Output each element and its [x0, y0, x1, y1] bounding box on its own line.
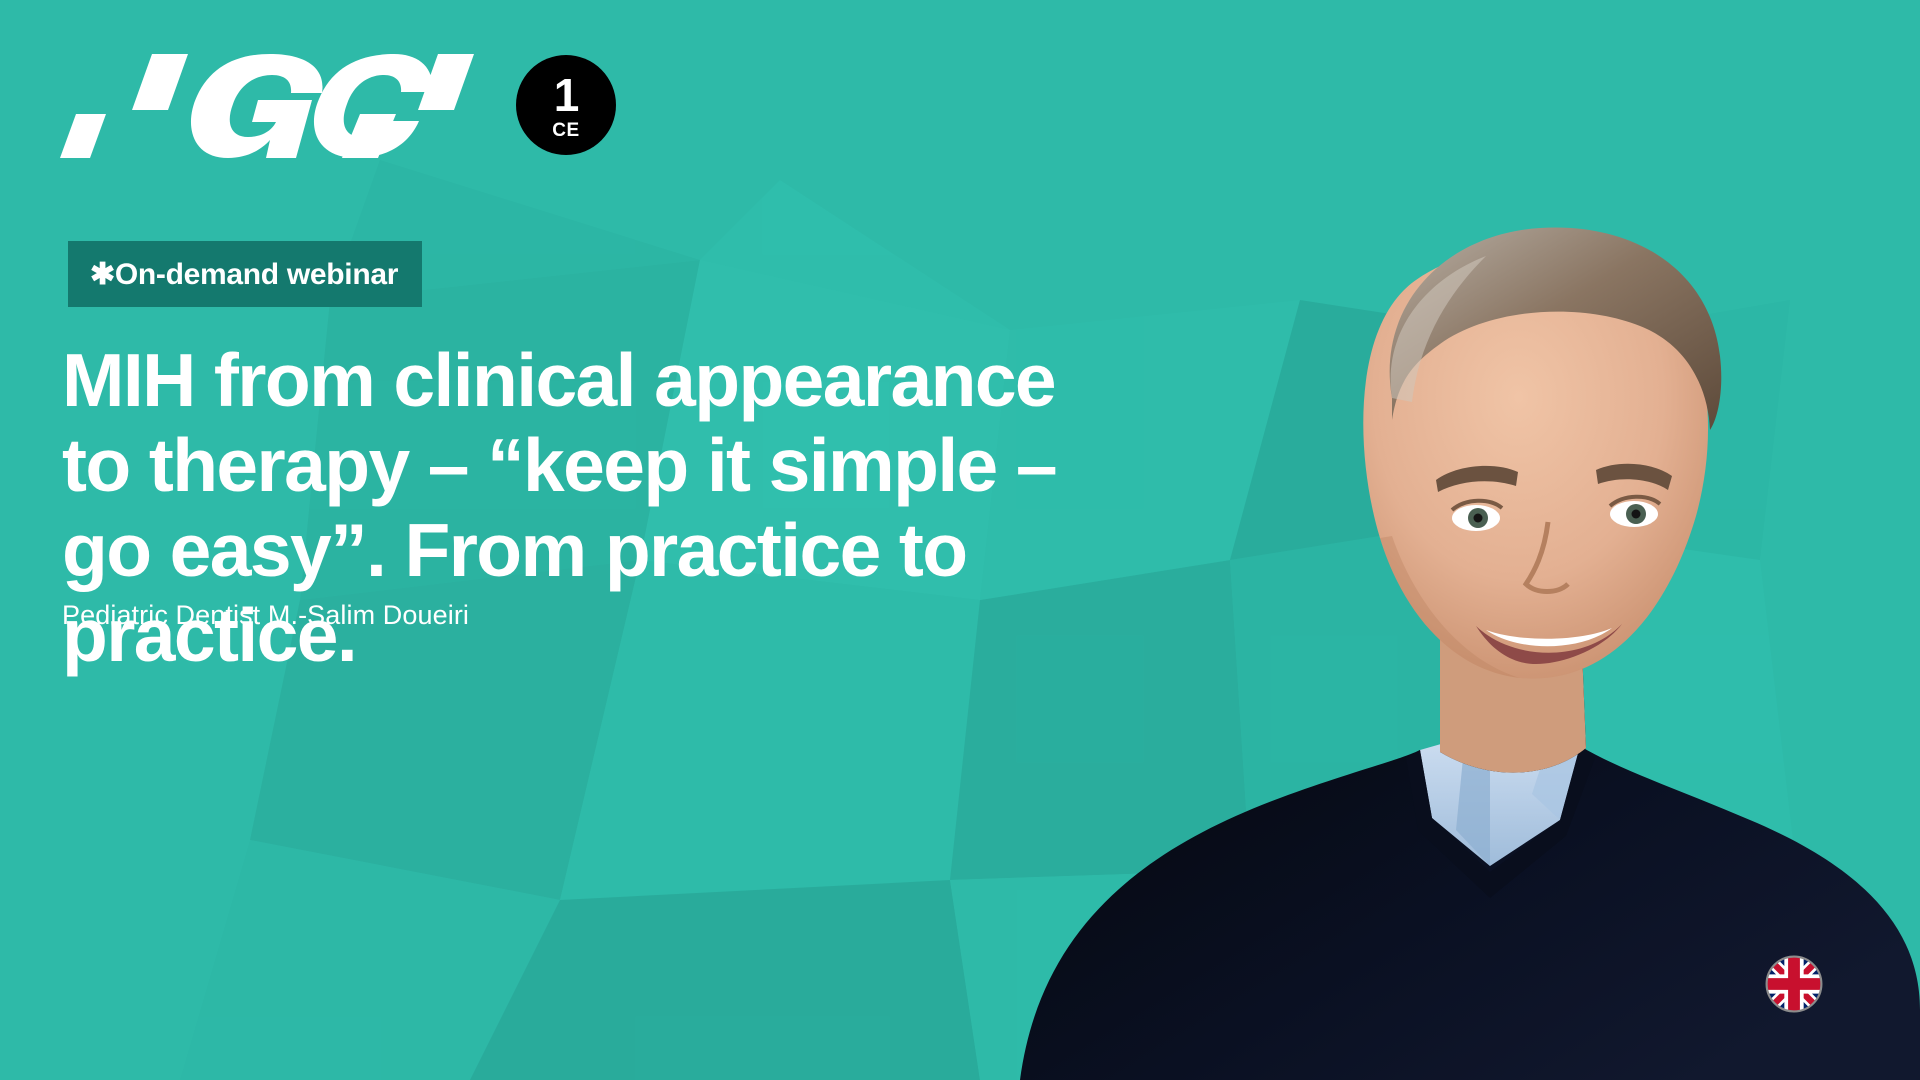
speaker-portrait	[1020, 130, 1920, 1080]
speaker-name: Pediatric Dentist M.-Salim Doueiri	[62, 600, 469, 631]
on-demand-webinar-label: ✱On-demand webinar	[90, 257, 398, 292]
ce-credit-number: 1	[554, 72, 579, 118]
webinar-promo-banner: 1 CE ✱On-demand webinar MIH from clinica…	[0, 0, 1920, 1080]
on-demand-webinar-tag: ✱On-demand webinar	[68, 241, 422, 307]
uk-flag-pin	[1765, 955, 1823, 1013]
ce-credit-label: CE	[552, 121, 579, 140]
ce-credit-badge: 1 CE	[516, 55, 616, 155]
gc-logo[interactable]	[60, 52, 480, 160]
